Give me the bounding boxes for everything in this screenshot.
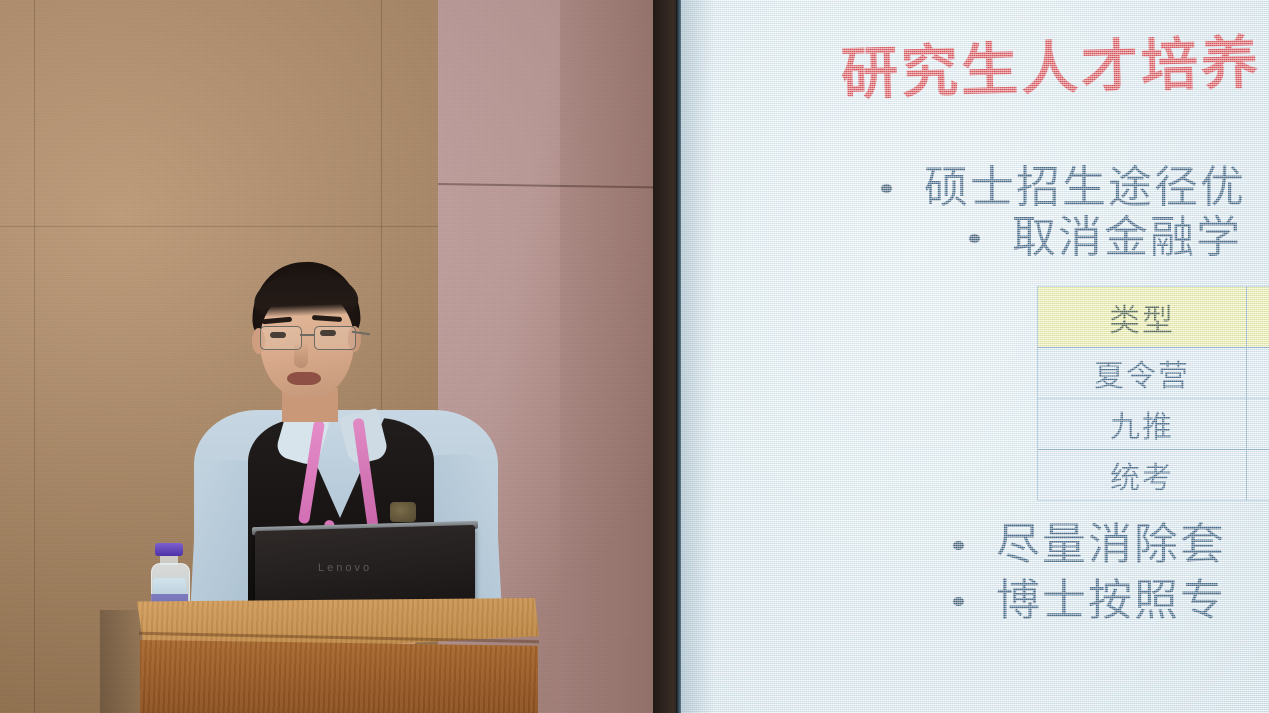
table-cell-type: 统考 [1038, 450, 1247, 501]
water-bottle-cap [155, 543, 183, 556]
projection-screen: 研究生人才培养 硕士招生途径优 取消金融学 类型 夏令营 九推 [681, 0, 1269, 713]
slide-bullet-3: 尽量消除套 [953, 522, 1226, 568]
presenter-nose [294, 342, 308, 368]
table-header-type: 类型 [1038, 287, 1247, 348]
slide-content: 研究生人才培养 硕士招生途径优 取消金融学 类型 夏令营 九推 [681, 0, 1269, 713]
bullet-dot-icon [969, 234, 980, 243]
presenter-mouth [287, 372, 321, 385]
podium-front-panel [140, 640, 538, 713]
slide-bullet-1: 硕士招生途径优 [881, 165, 1246, 211]
table-row: 夏令营 [1038, 348, 1269, 399]
slide-bullet-4: 博士按照专 [953, 578, 1226, 624]
table-row: 九推 [1038, 399, 1269, 450]
slide-table: 类型 夏令营 九推 统考 [1037, 286, 1269, 501]
table-header-row: 类型 [1038, 287, 1269, 348]
slide-bullet-2: 取消金融学 [969, 215, 1242, 261]
bullet-dot-icon [953, 541, 964, 550]
slide-title: 研究生人才培养 [840, 34, 1262, 106]
water-bottle-neck [160, 555, 178, 565]
table-cell-value [1247, 348, 1269, 399]
table-row: 统考 [1038, 450, 1269, 501]
table-header-second [1247, 287, 1269, 348]
table-cell-type: 夏令营 [1038, 348, 1247, 399]
table-cell-type: 九推 [1038, 399, 1247, 450]
bullet-dot-icon [881, 184, 892, 193]
slide-bullet-1-text: 硕士招生途径优 [924, 165, 1246, 211]
bullet-dot-icon [953, 597, 964, 606]
slide-bullet-2-text: 取消金融学 [1012, 215, 1242, 261]
table-cell-value [1247, 450, 1269, 501]
vest-logo [390, 502, 416, 522]
eyeglasses-icon [254, 326, 366, 350]
presentation-photo: 研究生人才培养 硕士招生途径优 取消金融学 类型 夏令营 九推 [0, 0, 1269, 713]
laptop-brand-label: Lenovo [318, 562, 372, 574]
table-cell-value [1247, 399, 1269, 450]
slide-bullet-4-text: 博士按照专 [996, 578, 1226, 624]
slide-bullet-3-text: 尽量消除套 [996, 522, 1226, 568]
